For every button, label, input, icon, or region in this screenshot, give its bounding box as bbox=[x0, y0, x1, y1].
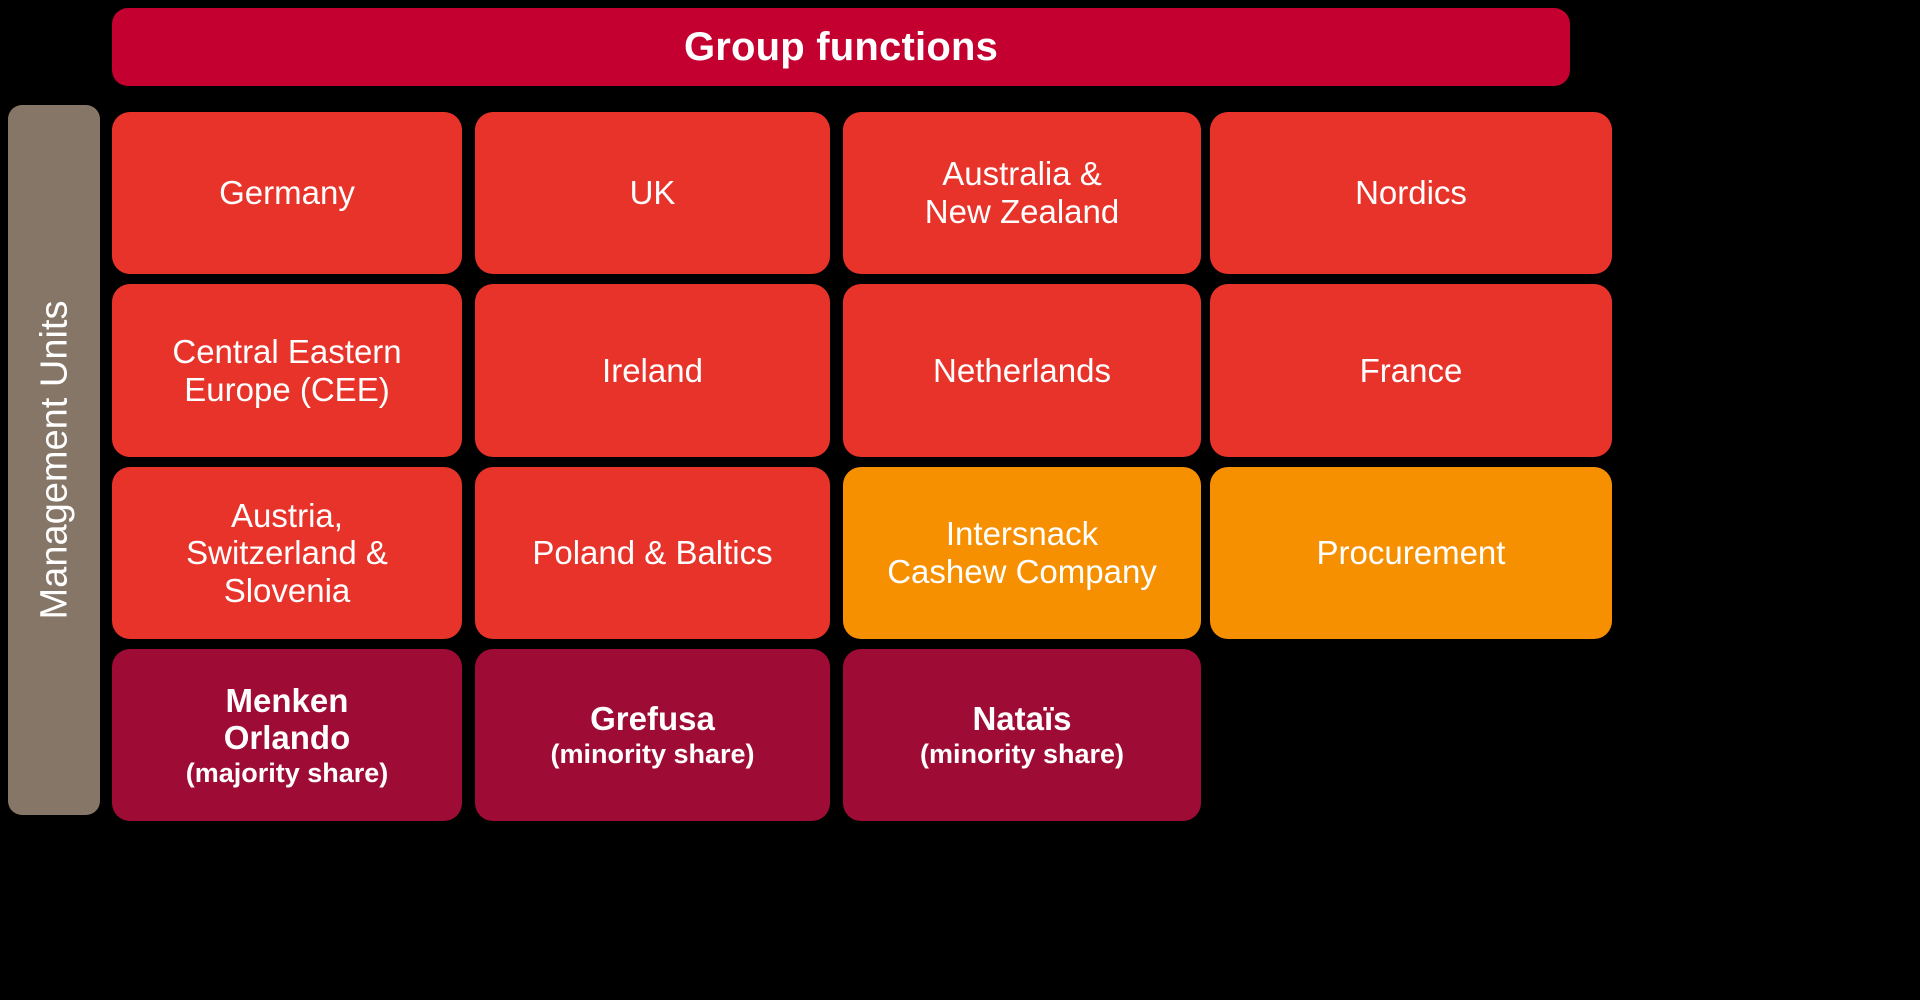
unit-card-menken-orlando[interactable]: Menken Orlando(majority share) bbox=[112, 649, 462, 821]
group-functions-banner: Group functions bbox=[112, 8, 1570, 86]
unit-card-title: Ireland bbox=[602, 352, 703, 390]
unit-card-share-note: (majority share) bbox=[186, 758, 389, 789]
unit-card-france[interactable]: France bbox=[1210, 284, 1612, 457]
unit-card-title: Menken Orlando bbox=[224, 682, 351, 757]
unit-card-central-eastern-europe[interactable]: Central Eastern Europe (CEE) bbox=[112, 284, 462, 457]
unit-card-title: Procurement bbox=[1317, 534, 1506, 572]
unit-card-uk[interactable]: UK bbox=[475, 112, 830, 274]
unit-card-title: Nordics bbox=[1355, 174, 1467, 212]
unit-card-nordics[interactable]: Nordics bbox=[1210, 112, 1612, 274]
unit-card-germany[interactable]: Germany bbox=[112, 112, 462, 274]
management-units-rail: Management Units bbox=[8, 105, 100, 815]
unit-card-netherlands[interactable]: Netherlands bbox=[843, 284, 1201, 457]
unit-card-australia-new-zealand[interactable]: Australia & New Zealand bbox=[843, 112, 1201, 274]
unit-card-ireland[interactable]: Ireland bbox=[475, 284, 830, 457]
unit-card-title: Central Eastern Europe (CEE) bbox=[172, 333, 401, 408]
unit-card-austria-switzerland-slovenia[interactable]: Austria, Switzerland & Slovenia bbox=[112, 467, 462, 639]
unit-card-title: Germany bbox=[219, 174, 355, 212]
unit-card-grefusa[interactable]: Grefusa(minority share) bbox=[475, 649, 830, 821]
management-units-label: Management Units bbox=[35, 301, 73, 620]
unit-card-share-note: (minority share) bbox=[920, 739, 1124, 770]
unit-card-title: Poland & Baltics bbox=[532, 534, 772, 572]
unit-card-poland-baltics[interactable]: Poland & Baltics bbox=[475, 467, 830, 639]
unit-card-intersnack-cashew-company[interactable]: Intersnack Cashew Company bbox=[843, 467, 1201, 639]
unit-card-title: Netherlands bbox=[933, 352, 1111, 390]
management-units-grid: GermanyUKAustralia & New ZealandNordicsC… bbox=[112, 112, 1612, 1000]
unit-card-title: UK bbox=[630, 174, 676, 212]
unit-card-title: Grefusa bbox=[590, 700, 715, 738]
unit-card-procurement[interactable]: Procurement bbox=[1210, 467, 1612, 639]
unit-card-title: Nataïs bbox=[972, 700, 1071, 738]
group-functions-label: Group functions bbox=[684, 27, 998, 67]
unit-card-natais[interactable]: Nataïs(minority share) bbox=[843, 649, 1201, 821]
org-structure-diagram: Group functions Management Units Germany… bbox=[0, 0, 1920, 1000]
unit-card-share-note: (minority share) bbox=[550, 739, 754, 770]
unit-card-title: Intersnack Cashew Company bbox=[887, 515, 1157, 590]
unit-card-title: Australia & New Zealand bbox=[925, 155, 1119, 230]
unit-card-title: France bbox=[1360, 352, 1463, 390]
unit-card-title: Austria, Switzerland & Slovenia bbox=[186, 497, 388, 610]
